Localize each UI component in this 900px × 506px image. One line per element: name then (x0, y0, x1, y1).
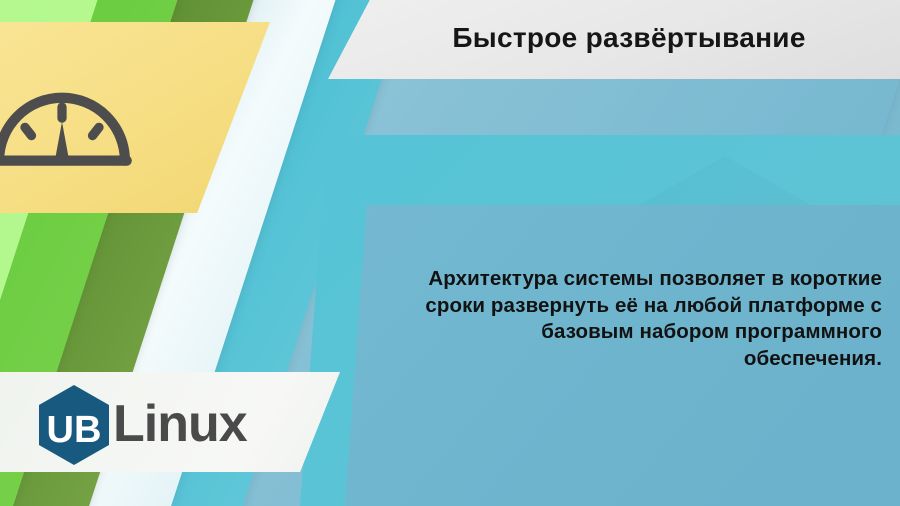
slide-canvas: UB Быстрое развёртывание Архитектура сис… (0, 0, 900, 506)
brand-logo-word: Linux (113, 398, 247, 450)
brand-logo-bar: UB Linux (0, 372, 340, 472)
yellow-icon-panel (0, 22, 270, 213)
page-title: Быстрое развёртывание (430, 22, 805, 58)
ub-mark-text: UB (47, 409, 102, 451)
speedometer-gauge-icon (0, 64, 136, 174)
slide-title-bar: Быстрое развёртывание (328, 0, 900, 79)
brand-logo: UB Linux (36, 384, 247, 466)
ub-hexagon-logo-mark: UB (36, 384, 112, 466)
slide-body-text: Архитектура системы позволяет в короткие… (424, 266, 882, 373)
